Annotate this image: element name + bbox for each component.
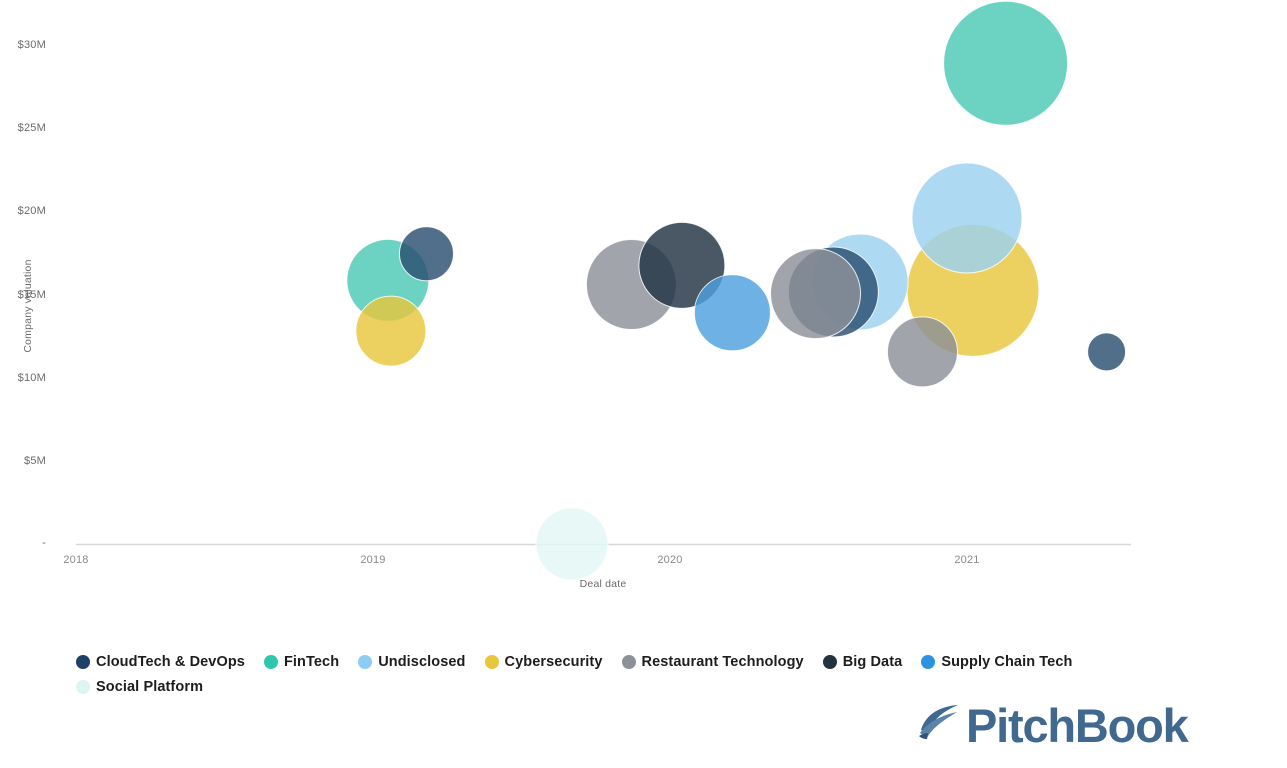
legend-item-label: Restaurant Technology (642, 654, 804, 670)
bubble-chart: $30M $25M $20M $15M $10M $5M - 2018 2019… (0, 0, 1287, 768)
bubble-point[interactable] (912, 163, 1022, 273)
legend-item-label: Undisclosed (378, 654, 465, 670)
bubble-point[interactable] (356, 296, 426, 366)
legend-swatch-icon (485, 655, 499, 669)
legend-item[interactable]: Social Platform (76, 679, 203, 695)
legend-item[interactable]: Big Data (823, 654, 903, 670)
bubble-point[interactable] (1088, 333, 1126, 371)
y-tick-label-zero: - (0, 537, 46, 549)
legend-swatch-icon (823, 655, 837, 669)
bubble-point[interactable] (536, 508, 608, 580)
legend-item[interactable]: Restaurant Technology (622, 654, 804, 670)
chart-legend: CloudTech & DevOpsFinTechUndisclosedCybe… (76, 654, 1196, 704)
pitchbook-logo: PitchBook (916, 700, 1188, 751)
legend-item-label: Big Data (843, 654, 903, 670)
y-tick-label-20m: $20M (0, 205, 46, 217)
legend-item-label: Supply Chain Tech (941, 654, 1072, 670)
bubble-point[interactable] (399, 227, 453, 281)
x-tick-label-2021: 2021 (937, 554, 997, 566)
legend-item[interactable]: Undisclosed (358, 654, 465, 670)
legend-swatch-icon (264, 655, 278, 669)
pitchbook-mark-icon (916, 700, 962, 751)
x-tick-label-2020: 2020 (640, 554, 700, 566)
legend-swatch-icon (921, 655, 935, 669)
legend-item-label: Social Platform (96, 679, 203, 695)
legend-swatch-icon (622, 655, 636, 669)
legend-item-label: Cybersecurity (505, 654, 603, 670)
x-axis-title: Deal date (543, 578, 663, 590)
legend-swatch-icon (76, 655, 90, 669)
x-tick-label-2018: 2018 (46, 554, 106, 566)
legend-item[interactable]: Cybersecurity (485, 654, 603, 670)
y-tick-label-5m: $5M (0, 455, 46, 467)
y-tick-label-10m: $10M (0, 372, 46, 384)
x-tick-label-2019: 2019 (343, 554, 403, 566)
legend-swatch-icon (76, 680, 90, 694)
legend-swatch-icon (358, 655, 372, 669)
legend-item[interactable]: FinTech (264, 654, 339, 670)
pitchbook-wordmark: PitchBook (966, 702, 1188, 749)
legend-item-label: FinTech (284, 654, 339, 670)
bubble-point[interactable] (694, 275, 770, 351)
legend-item-label: CloudTech & DevOps (96, 654, 245, 670)
legend-item[interactable]: Supply Chain Tech (921, 654, 1072, 670)
bubble-point[interactable] (887, 317, 957, 387)
y-axis-title: Company valuation (22, 246, 34, 366)
y-tick-label-25m: $25M (0, 122, 46, 134)
bubble-point[interactable] (771, 249, 861, 339)
legend-item[interactable]: CloudTech & DevOps (76, 654, 245, 670)
y-tick-label-30m: $30M (0, 39, 46, 51)
bubble-point[interactable] (944, 1, 1068, 125)
plot-area (0, 0, 1287, 768)
